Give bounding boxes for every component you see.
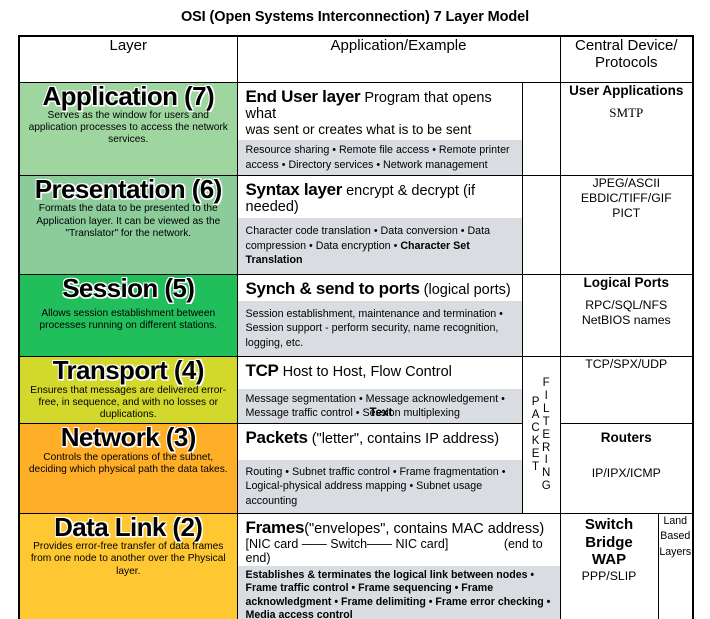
table-row-transport: Transport (4) Ensures that messages are … — [19, 357, 693, 424]
device-protocol-transport: TCP/SPX/UDP — [561, 357, 693, 372]
app-sub-network: Routing • Subnet traffic control • Frame… — [238, 460, 522, 513]
app-rest-network: ("letter", contains IP address) — [312, 431, 499, 447]
layer-title-presentation: Presentation (6) — [20, 176, 237, 203]
layer-description-presentation: Formats the data to be presented to the … — [20, 203, 237, 239]
app-main-session: Synch & send to ports (logical ports) — [238, 275, 522, 301]
layer-number-transport: (4) — [174, 355, 204, 385]
packet-filtering-word-filtering: FILTERING — [542, 377, 551, 493]
layer-description-application: Serves as the window for users and appli… — [20, 110, 237, 146]
land-based-line2: Based — [659, 529, 693, 544]
app-bold-transport: TCP — [246, 361, 279, 380]
table-row-presentation: Presentation (6) Formats the data to be … — [19, 175, 693, 274]
app-sub-application: Resource sharing • Remote file access • … — [238, 140, 522, 175]
device-strong-datalink-line3: WAP — [561, 551, 658, 569]
app-rest-transport: Host to Host, Flow Control — [283, 364, 452, 380]
layer-description-datalink: Provides error-free transfer of data fra… — [20, 541, 237, 577]
header-layer: Layer — [19, 36, 237, 82]
device-protocol-presentation-line2: EBDIC/TIFF/GIF — [561, 191, 693, 206]
table-row-datalink: Data Link (2) Provides error-free transf… — [19, 513, 693, 619]
device-gap-session — [561, 291, 693, 298]
device-cell-datalink: Switch Bridge WAP PPP/SLIP — [560, 513, 658, 619]
app-bold-datalink: Frames — [246, 518, 305, 537]
layer-number-datalink: (2) — [172, 512, 202, 542]
device-strong-application: User Applications — [561, 83, 693, 99]
app-bold-presentation: Syntax layer — [246, 180, 343, 199]
layer-name-session: Session — [62, 273, 158, 303]
layer-name-application: Application — [42, 81, 177, 111]
header-central-device: Central Device/ Protocols — [560, 36, 693, 82]
app-sub-transport-line2-wrap: Message traffic control • Session multip… — [246, 406, 516, 420]
app-sub-transport-line2: Message traffic control • Session multip… — [246, 407, 460, 419]
device-cell-transport: TCP/SPX/UDP — [560, 357, 693, 424]
app-cell-datalink: Frames("envelopes", contains MAC address… — [237, 513, 560, 619]
device-protocol-application: SMTP — [561, 105, 693, 122]
device-cell-network: Routers IP/IPX/ICMP — [560, 424, 693, 514]
layer-title-session: Session (5) — [20, 275, 237, 302]
layer-cell-application: Application (7) Serves as the window for… — [19, 82, 237, 175]
layer-cell-presentation: Presentation (6) Formats the data to be … — [19, 175, 237, 274]
pf-spacer-application — [522, 82, 560, 175]
device-protocol-network: IP/IPX/ICMP — [561, 466, 693, 481]
layer-name-datalink: Data Link — [54, 512, 166, 542]
app-main-application: End User layer Program that opens what w… — [238, 83, 522, 141]
device-protocol-presentation-line3: PICT — [561, 206, 693, 221]
layer-number-application: (7) — [184, 81, 214, 111]
app-cell-transport: TCP Host to Host, Flow Control Message s… — [237, 357, 522, 424]
layer-name-network: Network — [61, 422, 159, 452]
layer-title-application: Application (7) — [20, 83, 237, 110]
packet-filtering-word-packet: PACKET — [531, 396, 539, 473]
packet-filtering-bar: PACKET FILTERING — [522, 357, 560, 514]
app-line2a-datalink: [NIC card —— Switch—— NIC card] — [246, 537, 449, 551]
app-main-datalink: Frames("envelopes", contains MAC address… — [238, 514, 560, 566]
table-row-application: Application (7) Serves as the window for… — [19, 82, 693, 175]
table-row-network: Network (3) Controls the operations of t… — [19, 424, 693, 514]
land-based-line1: Land — [659, 514, 693, 529]
header-application: Application/Example — [237, 36, 560, 82]
app-bold-session: Synch & send to ports — [246, 279, 420, 298]
land-based-layers-bar: Land Based Layers — [658, 513, 693, 619]
app-cell-session: Synch & send to ports (logical ports) Se… — [237, 274, 522, 357]
osi-diagram-page: OSI (Open Systems Interconnection) 7 Lay… — [0, 0, 710, 619]
device-cell-application: User Applications SMTP — [560, 82, 693, 175]
pf-spacer-session — [522, 274, 560, 357]
layer-number-presentation: (6) — [192, 174, 222, 204]
app-sub-datalink: Establishes & terminates the logical lin… — [238, 566, 560, 619]
app-sub-transport-line1: Message segmentation • Message acknowled… — [246, 392, 516, 406]
app-rest-session: (logical ports) — [424, 282, 511, 298]
app-sub-transport-overlay-text: Text — [370, 406, 393, 422]
device-protocol-session-line2: NetBIOS names — [561, 313, 693, 328]
layer-title-network: Network (3) — [20, 424, 237, 451]
layer-cell-session: Session (5) Allows session establishment… — [19, 274, 237, 357]
device-cell-presentation: JPEG/ASCII EBDIC/TIFF/GIF PICT — [560, 175, 693, 274]
header-central-device-line1: Central Device/ — [561, 37, 693, 54]
layer-cell-transport: Transport (4) Ensures that messages are … — [19, 357, 237, 424]
app-main-presentation: Syntax layer encrypt & decrypt (if neede… — [238, 176, 522, 218]
app-cell-application: End User layer Program that opens what w… — [237, 82, 522, 175]
app-line2-datalink: [NIC card —— Switch—— NIC card] (end to … — [246, 537, 554, 565]
app-sub-transport: Message segmentation • Message acknowled… — [238, 389, 522, 424]
app-sub-session: Session establishment, maintenance and t… — [238, 301, 522, 356]
device-protocol-session-line1: RPC/SQL/NFS — [561, 298, 693, 313]
layer-description-session: Allows session establishment between pro… — [20, 308, 237, 332]
device-cell-session: Logical Ports RPC/SQL/NFS NetBIOS names — [560, 274, 693, 357]
layer-name-presentation: Presentation — [35, 174, 185, 204]
layer-number-session: (5) — [164, 273, 194, 303]
device-strong-datalink-line1: Switch — [561, 516, 658, 534]
layer-title-datalink: Data Link (2) — [20, 514, 237, 541]
pf-spacer-presentation — [522, 175, 560, 274]
table-row-session: Session (5) Allows session establishment… — [19, 274, 693, 357]
layer-name-transport: Transport — [53, 355, 168, 385]
app-bold-network: Packets — [246, 428, 308, 447]
layer-title-transport: Transport (4) — [20, 357, 237, 384]
app-sub-presentation: Character code translation • Data conver… — [238, 218, 522, 273]
app-cell-network: Packets ("letter", contains IP address) … — [237, 424, 522, 514]
packet-filtering-inner: PACKET FILTERING — [523, 357, 560, 513]
device-gap-application — [561, 98, 693, 105]
osi-layer-table: Layer Application/Example Central Device… — [18, 35, 694, 619]
layer-description-network: Controls the operations of the subnet, d… — [20, 452, 237, 476]
app-main-transport: TCP Host to Host, Flow Control — [238, 357, 522, 388]
app-line2-application: was sent or creates what is to be sent — [246, 122, 516, 137]
layer-description-transport: Ensures that messages are delivered erro… — [20, 385, 237, 421]
land-based-line3: Layers — [659, 545, 693, 560]
layer-cell-datalink: Data Link (2) Provides error-free transf… — [19, 513, 237, 619]
layer-number-network: (3) — [166, 422, 196, 452]
device-gap-network — [561, 446, 693, 466]
device-strong-network: Routers — [561, 430, 693, 446]
layer-cell-network: Network (3) Controls the operations of t… — [19, 424, 237, 514]
device-strong-session: Logical Ports — [561, 275, 693, 291]
device-protocol-datalink: PPP/SLIP — [561, 569, 658, 584]
page-title: OSI (Open Systems Interconnection) 7 Lay… — [0, 0, 710, 25]
app-main-network: Packets ("letter", contains IP address) — [238, 424, 522, 459]
app-rest-datalink: ("envelopes", contains MAC address) — [304, 521, 544, 537]
app-bold-application: End User layer — [246, 87, 361, 106]
device-protocol-presentation-line1: JPEG/ASCII — [561, 176, 693, 191]
table-header-row: Layer Application/Example Central Device… — [19, 36, 693, 82]
app-cell-presentation: Syntax layer encrypt & decrypt (if neede… — [237, 175, 522, 274]
device-strong-datalink-line2: Bridge — [561, 534, 658, 552]
header-central-device-line2: Protocols — [561, 54, 693, 71]
